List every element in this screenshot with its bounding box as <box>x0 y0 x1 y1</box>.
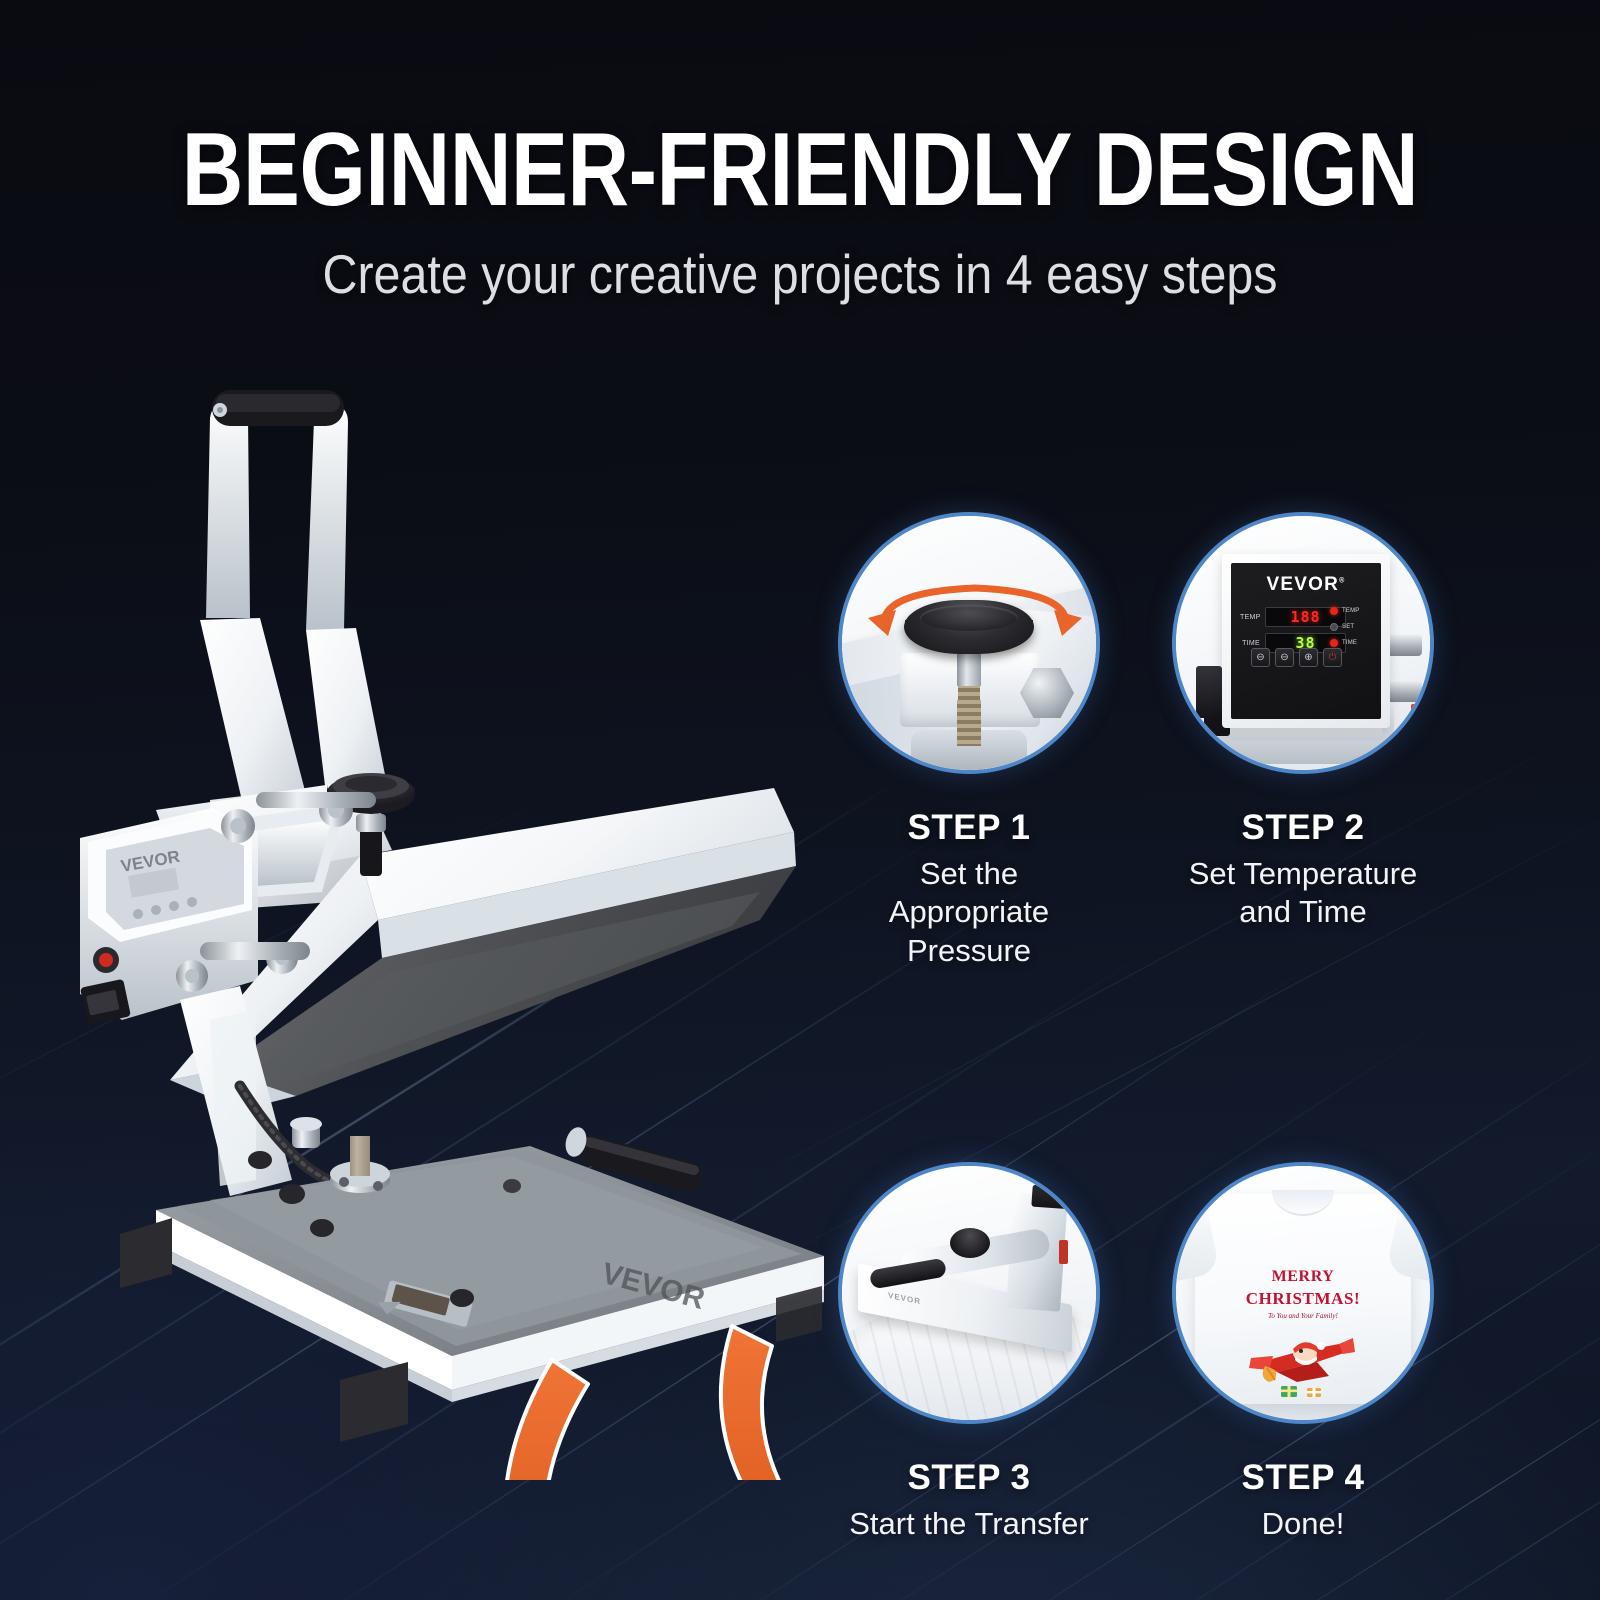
step-3-description: Start the Transfer <box>838 1505 1100 1543</box>
step-4-image: MERRY CHRISTMAS! To You and Your Family! <box>1172 1162 1434 1424</box>
step-4-description: Done! <box>1172 1505 1434 1543</box>
set-button[interactable]: ⊖ <box>1275 648 1294 667</box>
time-label: TIME <box>1240 640 1260 647</box>
step-1: STEP 1 Set the Appropriate Pressure <box>838 512 1100 970</box>
led-set: SET <box>1330 623 1372 631</box>
set-led-icon <box>1330 623 1338 631</box>
power-button[interactable]: ⏻ <box>1323 648 1342 667</box>
minus-button[interactable]: ⊖ <box>1251 648 1270 667</box>
temp-label: TEMP <box>1240 614 1260 621</box>
time-led-label: TIME <box>1342 640 1357 646</box>
step-2-title: STEP 2 <box>1172 808 1434 848</box>
led-time: TIME <box>1330 639 1372 647</box>
step-4: MERRY CHRISTMAS! To You and Your Family! <box>1172 1162 1434 1543</box>
step-2-description: Set Temperature and Time <box>1172 855 1434 932</box>
promo-image: BEGINNER-FRIENDLY DESIGN Create your cre… <box>0 0 1600 1600</box>
steps-row-top: STEP 1 Set the Appropriate Pressure <box>838 512 1498 970</box>
vevor-logo-text: VEVOR <box>1267 574 1340 595</box>
step-1-description: Set the Appropriate Pressure <box>838 855 1100 970</box>
registered-mark: ® <box>1339 578 1345 585</box>
step-2: VEVOR® TEMP 188 TIME 38 <box>1172 512 1434 970</box>
time-led-icon <box>1330 639 1338 647</box>
page-title: BEGINNER-FRIENDLY DESIGN <box>144 118 1456 222</box>
led-temp: TEMP <box>1330 607 1372 615</box>
step-3: VEVOR STEP 3 Start the Transfer <box>838 1162 1100 1543</box>
controller-panel: VEVOR® TEMP 188 TIME 38 <box>1222 554 1390 728</box>
print-line-2: CHRISTMAS! <box>1195 1289 1411 1309</box>
panel-button-row: ⊖ ⊖ ⊕ ⏻ <box>1251 648 1342 667</box>
product-image-heat-press: VEVOR <box>60 380 860 1480</box>
print-line-1: MERRY <box>1195 1268 1411 1286</box>
vevor-logo: VEVOR® <box>1267 574 1346 596</box>
step-3-image: VEVOR <box>838 1162 1100 1424</box>
header-block: BEGINNER-FRIENDLY DESIGN Create your cre… <box>0 118 1600 306</box>
steps-grid: STEP 1 Set the Appropriate Pressure <box>838 512 1498 1544</box>
step-3-title: STEP 3 <box>838 1458 1100 1498</box>
print-subline: To You and Your Family! <box>1195 1312 1411 1320</box>
plus-button[interactable]: ⊕ <box>1299 648 1318 667</box>
printed-tshirt: MERRY CHRISTMAS! To You and Your Family! <box>1195 1194 1411 1404</box>
temp-led-label: TEMP <box>1342 608 1359 614</box>
page-subtitle: Create your creative projects in 4 easy … <box>96 242 1504 306</box>
step-4-title: STEP 4 <box>1172 1458 1434 1498</box>
shirt-collar <box>1272 1190 1334 1216</box>
step-2-image: VEVOR® TEMP 188 TIME 38 <box>1172 512 1434 774</box>
gift-boxes-icon <box>1279 1382 1327 1398</box>
rotation-arrow-icon <box>862 574 1088 684</box>
santa-plane-icon <box>1243 1322 1363 1388</box>
press-handle <box>206 390 348 630</box>
temp-led-icon <box>1330 607 1338 615</box>
step-1-title: STEP 1 <box>838 808 1100 848</box>
set-led-label: SET <box>1342 624 1354 630</box>
steps-row-bottom: VEVOR STEP 3 Start the Transfer <box>838 1162 1498 1543</box>
step-1-image <box>838 512 1100 774</box>
